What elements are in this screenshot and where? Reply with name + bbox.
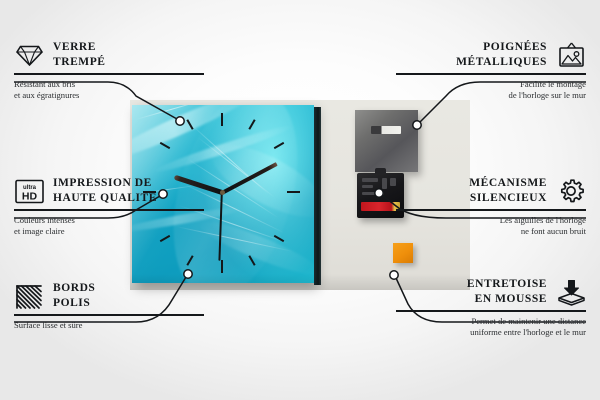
ultra-hd-icon: ultra HD bbox=[14, 176, 44, 206]
callout-mecanisme-silencieux: MÉCANISME SILENCIEUX Les aiguilles de l'… bbox=[396, 176, 586, 238]
foam-spacer-arrow-icon bbox=[556, 277, 586, 307]
picture-frame-hanger-icon bbox=[556, 40, 586, 70]
callout-title: ENTRETOISE EN MOUSSE bbox=[467, 277, 547, 306]
clock-tick bbox=[287, 191, 300, 193]
callout-title: MÉCANISME SILENCIEUX bbox=[469, 176, 547, 205]
callout-description: Résistant aux bris et aux égratignures bbox=[14, 79, 204, 102]
callout-header: ENTRETOISE EN MOUSSE bbox=[396, 277, 586, 307]
callout-header: VERRE TREMPÉ bbox=[14, 40, 204, 70]
callout-header: BORDS POLIS bbox=[14, 281, 204, 311]
infographic-canvas: VERRE TREMPÉ Résistant aux bris et aux é… bbox=[0, 0, 600, 400]
diamond-icon bbox=[14, 40, 44, 70]
callout-description: Surface lisse et sûre bbox=[14, 320, 204, 332]
callout-divider bbox=[396, 310, 586, 312]
clock-tick bbox=[221, 113, 223, 126]
callout-entretoise-en-mousse: ENTRETOISE EN MOUSSE Permet de maintenir… bbox=[396, 277, 586, 339]
callout-divider bbox=[396, 209, 586, 211]
clock-tick bbox=[221, 260, 223, 273]
callout-header: ultra HD IMPRESSION DE HAUTE QUALITÉ bbox=[14, 176, 204, 206]
callout-description: Couleurs intenses et image claire bbox=[14, 215, 204, 238]
clock-glass-edge bbox=[314, 107, 321, 285]
callout-poignees-metalliques: POIGNÉES MÉTALLIQUES Facilite le montage… bbox=[396, 40, 586, 102]
callout-divider bbox=[14, 209, 204, 211]
metal-hanger-plate bbox=[355, 110, 418, 172]
polished-edges-icon bbox=[14, 281, 44, 311]
hanger-slot bbox=[371, 126, 401, 134]
callout-description: Les aiguilles de l'horloge ne font aucun… bbox=[396, 215, 586, 238]
foam-spacer-pad bbox=[393, 243, 413, 263]
clock-center-hub bbox=[220, 190, 225, 195]
callout-header: MÉCANISME SILENCIEUX bbox=[396, 176, 586, 206]
mechanism-battery bbox=[361, 202, 400, 211]
callout-title: BORDS POLIS bbox=[53, 281, 95, 310]
callout-verre-trempe: VERRE TREMPÉ Résistant aux bris et aux é… bbox=[14, 40, 204, 102]
callout-title: VERRE TREMPÉ bbox=[53, 40, 106, 69]
gear-icon bbox=[556, 176, 586, 206]
callout-title: POIGNÉES MÉTALLIQUES bbox=[456, 40, 547, 69]
callout-divider bbox=[396, 73, 586, 75]
callout-bords-polis: BORDS POLIS Surface lisse et sûre bbox=[14, 281, 204, 331]
callout-description: Facilite le montage de l'horloge sur le … bbox=[396, 79, 586, 102]
callout-divider bbox=[14, 314, 204, 316]
callout-header: POIGNÉES MÉTALLIQUES bbox=[396, 40, 586, 70]
callout-impression-haute-qualite: ultra HD IMPRESSION DE HAUTE QUALITÉ Cou… bbox=[14, 176, 204, 238]
mechanism-shaft bbox=[375, 168, 386, 174]
callout-divider bbox=[14, 73, 204, 75]
callout-title: IMPRESSION DE HAUTE QUALITÉ bbox=[53, 176, 157, 205]
callout-description: Permet de maintenir une distance uniform… bbox=[396, 316, 586, 339]
svg-text:HD: HD bbox=[21, 190, 37, 202]
